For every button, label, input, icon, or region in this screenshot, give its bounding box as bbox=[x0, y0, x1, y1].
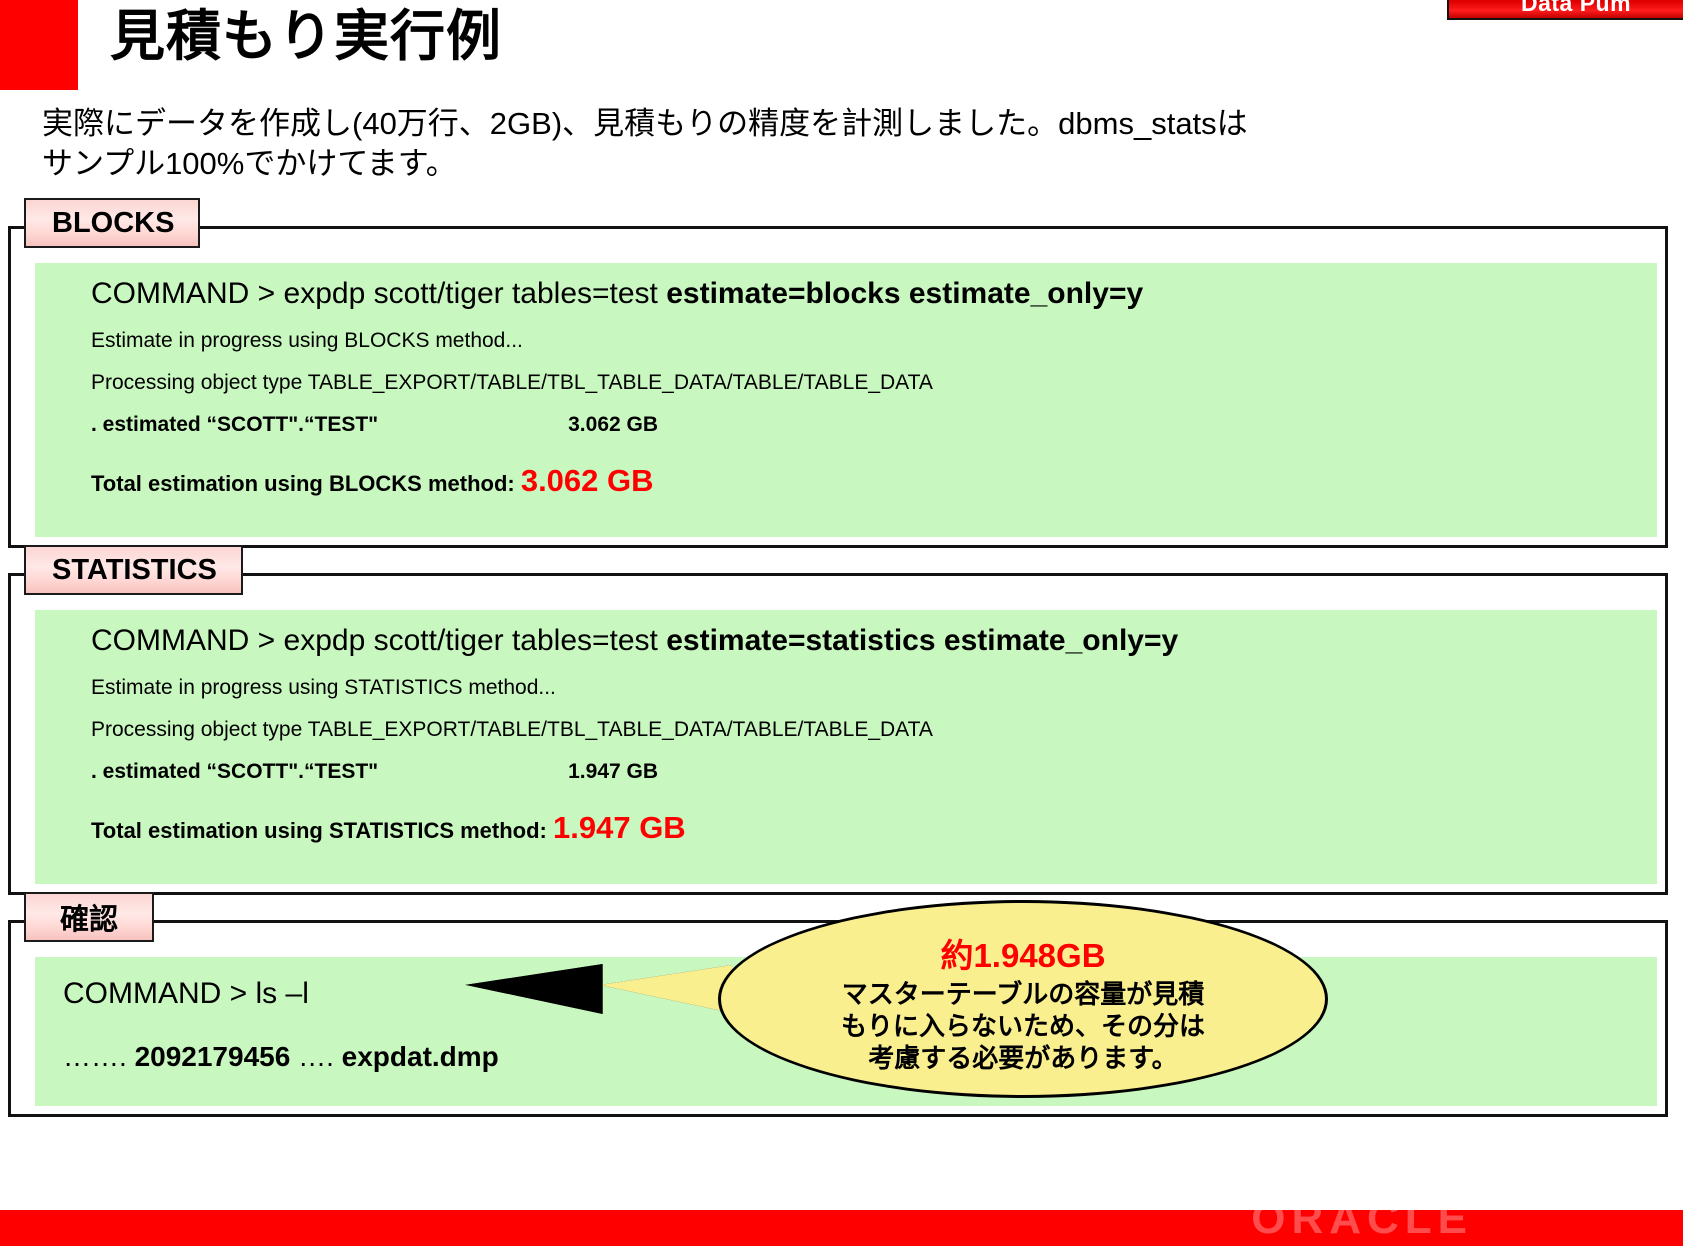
terminal-command-line: COMMAND > expdp scott/tiger tables=test … bbox=[91, 277, 1647, 311]
section-tab-confirm[interactable]: 確認 bbox=[24, 892, 154, 942]
lead-line-2: サンプル100%でかけてます。 bbox=[42, 144, 1372, 184]
terminal-total-line: Total estimation using STATISTICS method… bbox=[91, 810, 1647, 846]
terminal-estimated-line: . estimated “SCOTT".“TEST"3.062 GB bbox=[91, 413, 1647, 437]
callout-bubble: 約1.948GB マスターテーブルの容量が見積 もりに入らないため、その分は 考… bbox=[718, 900, 1328, 1098]
callout-tail bbox=[600, 965, 732, 1013]
file-name: expdat.dmp bbox=[342, 1041, 499, 1072]
estimated-label: . estimated “SCOTT".“TEST" bbox=[91, 413, 378, 436]
section-frame: COMMAND > expdp scott/tiger tables=test … bbox=[8, 573, 1668, 895]
terminal-output-statistics: COMMAND > expdp scott/tiger tables=test … bbox=[35, 610, 1657, 884]
section-blocks: BLOCKS COMMAND > expdp scott/tiger table… bbox=[8, 198, 1668, 548]
header-badge: Data Pum bbox=[1447, 0, 1683, 20]
section-statistics: STATISTICS COMMAND > expdp scott/tiger t… bbox=[8, 545, 1668, 895]
callout-heading: 約1.948GB bbox=[940, 929, 1105, 977]
command-prefix: COMMAND > expdp scott/tiger tables=test bbox=[91, 624, 666, 657]
section-tab-blocks[interactable]: BLOCKS bbox=[24, 198, 200, 248]
section-tab-label: 確認 bbox=[60, 896, 118, 938]
terminal-total-line: Total estimation using BLOCKS method: 3.… bbox=[91, 463, 1647, 499]
section-tab-statistics[interactable]: STATISTICS bbox=[24, 545, 243, 595]
command-options: estimate=blocks estimate_only=y bbox=[666, 277, 1143, 310]
section-tab-label: STATISTICS bbox=[52, 554, 217, 587]
total-value: 1.947 GB bbox=[553, 810, 686, 845]
estimated-value: 1.947 GB bbox=[568, 760, 658, 783]
section-frame: COMMAND > expdp scott/tiger tables=test … bbox=[8, 226, 1668, 548]
total-label: Total estimation using BLOCKS method: bbox=[91, 471, 521, 496]
callout-body: マスターテーブルの容量が見積 もりに入らないため、その分は 考慮する必要がありま… bbox=[841, 979, 1205, 1074]
total-value: 3.062 GB bbox=[521, 463, 654, 498]
file-dots-left: ……. bbox=[63, 1041, 135, 1072]
header-badge-label: Data Pum bbox=[1521, 0, 1631, 17]
terminal-command-line: COMMAND > expdp scott/tiger tables=test … bbox=[91, 624, 1647, 658]
section-tab-label: BLOCKS bbox=[52, 207, 174, 240]
terminal-estimated-line: . estimated “SCOTT".“TEST"1.947 GB bbox=[91, 760, 1647, 784]
terminal-processing-line: Processing object type TABLE_EXPORT/TABL… bbox=[91, 371, 1647, 395]
page-title: 見積もり実行例 bbox=[110, 8, 502, 66]
command-prefix: COMMAND > expdp scott/tiger tables=test bbox=[91, 277, 666, 310]
oracle-logo: ORACLE bbox=[1251, 1194, 1473, 1244]
estimated-value: 3.062 GB bbox=[568, 413, 658, 436]
file-size: 2092179456 bbox=[135, 1041, 291, 1072]
title-accent-marker bbox=[0, 0, 78, 90]
file-dots-right: …. bbox=[290, 1041, 341, 1072]
terminal-progress-line: Estimate in progress using STATISTICS me… bbox=[91, 676, 1647, 700]
lead-line-1: 実際にデータを作成し(40万行、2GB)、見積もりの精度を計測しました。dbms… bbox=[42, 104, 1372, 144]
lead-paragraph: 実際にデータを作成し(40万行、2GB)、見積もりの精度を計測しました。dbms… bbox=[42, 104, 1372, 183]
callout-body-line-1: マスターテーブルの容量が見積 bbox=[841, 979, 1205, 1011]
terminal-processing-line: Processing object type TABLE_EXPORT/TABL… bbox=[91, 718, 1647, 742]
terminal-progress-line: Estimate in progress using BLOCKS method… bbox=[91, 329, 1647, 353]
estimated-label: . estimated “SCOTT".“TEST" bbox=[91, 760, 378, 783]
callout-body-line-3: 考慮する必要があります。 bbox=[841, 1043, 1205, 1075]
terminal-output-blocks: COMMAND > expdp scott/tiger tables=test … bbox=[35, 263, 1657, 537]
total-label: Total estimation using STATISTICS method… bbox=[91, 818, 553, 843]
callout-body-line-2: もりに入らないため、その分は bbox=[841, 1011, 1205, 1043]
command-options: estimate=statistics estimate_only=y bbox=[666, 624, 1178, 657]
